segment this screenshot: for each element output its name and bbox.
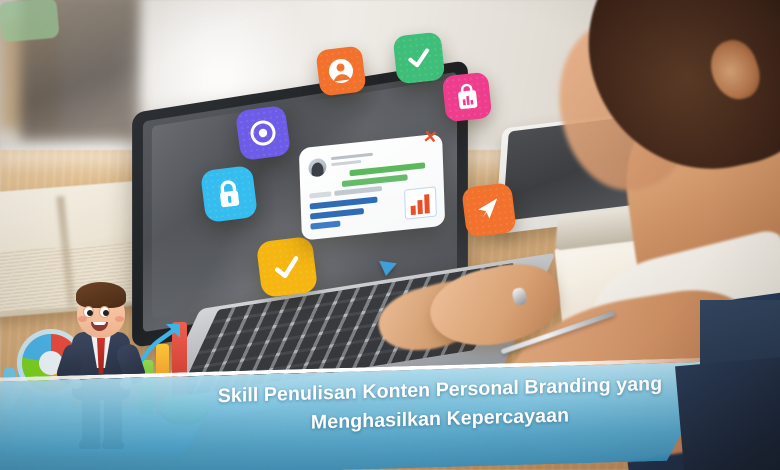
target-icon[interactable]: [235, 105, 291, 161]
bar-chart-thumbnail: [404, 186, 437, 219]
mascot-eye-right: [99, 306, 110, 318]
card-placeholder-line: [334, 186, 382, 196]
check-green-icon[interactable]: [393, 32, 446, 85]
report-bag-icon[interactable]: [442, 72, 493, 123]
user-glyph: [325, 55, 356, 86]
banner-title-line-2: Menghasilkan Kepercayaan: [311, 403, 569, 435]
check-glyph: [269, 249, 305, 285]
header-banner-image: ✕: [0, 0, 780, 470]
bag-chart-glyph: [452, 81, 482, 113]
progress-bar-blue-3: [310, 221, 340, 230]
progress-bar-blue-2: [310, 208, 364, 220]
check-yellow-icon[interactable]: [256, 236, 318, 298]
paper-plane-glyph: [472, 193, 505, 226]
check-glyph: [404, 43, 435, 74]
card-label-chip: [309, 191, 331, 198]
mascot-cheek-right: [115, 316, 124, 322]
mouse-cursor: [377, 261, 397, 277]
padlock-glyph: [212, 176, 246, 211]
user-profile-icon[interactable]: [315, 45, 366, 96]
green-chip-shape: [0, 0, 60, 42]
lock-icon[interactable]: [200, 165, 258, 223]
person-shirt-foreground: [675, 354, 780, 470]
avatar: [308, 158, 327, 178]
send-icon[interactable]: [461, 182, 517, 238]
progress-bar-blue-1: [310, 196, 378, 209]
card-subtitle-line: [331, 160, 361, 166]
chart-thumbnail-glyph: [405, 187, 436, 218]
close-icon[interactable]: ✕: [422, 128, 438, 146]
card-title-line: [331, 153, 373, 160]
progress-bar-green-2: [342, 174, 408, 187]
target-glyph: [246, 116, 280, 150]
profile-progress-card[interactable]: ✕: [299, 133, 445, 240]
progress-bar-green-1: [349, 162, 425, 176]
mascot-eye-left: [83, 306, 94, 318]
